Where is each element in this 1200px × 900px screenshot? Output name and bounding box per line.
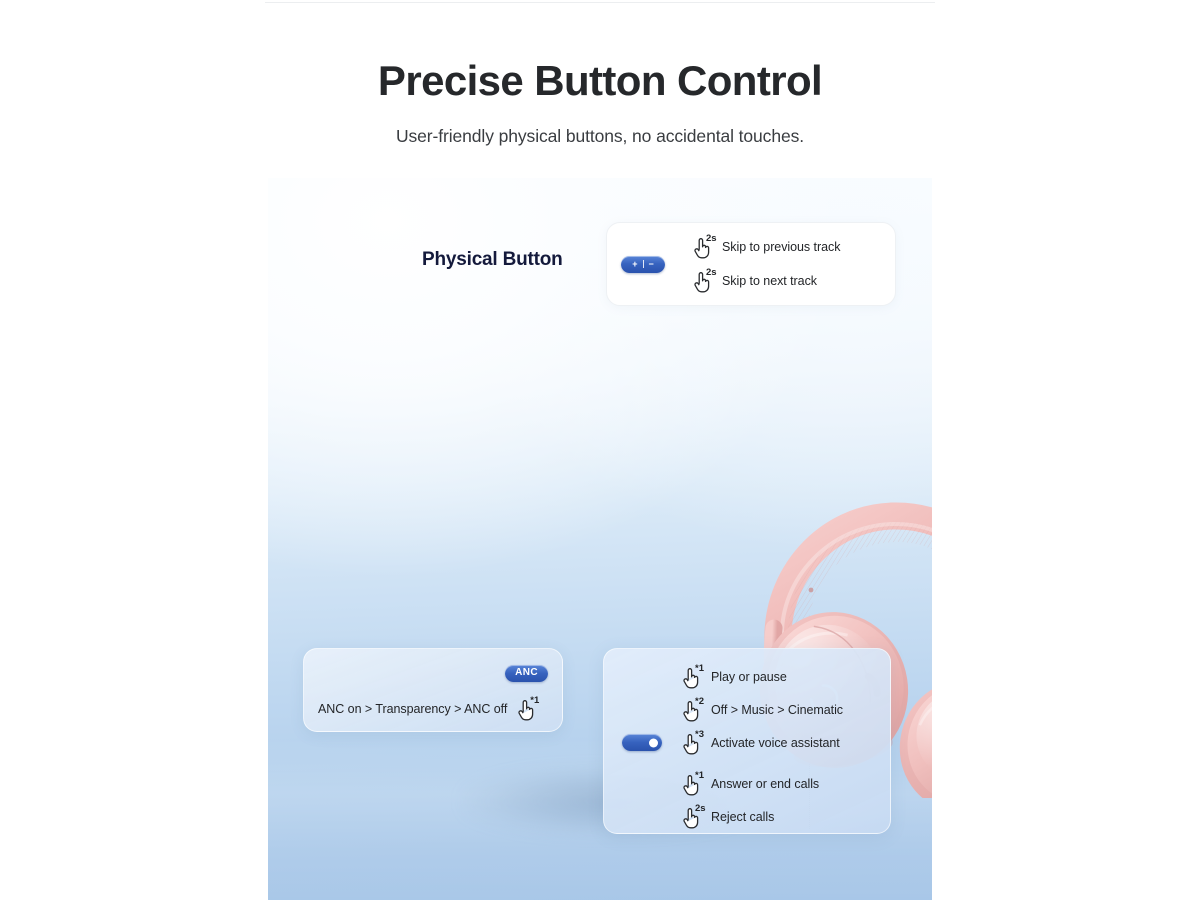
volume-down-symbol: − [649, 260, 654, 269]
gesture-badge: 2s [706, 268, 717, 278]
gesture-badge: *1 [695, 771, 704, 781]
gesture-label: Activate voice assistant [711, 736, 840, 750]
heading-block: Precise Button Control User-friendly phy… [0, 56, 1200, 147]
gesture-row: *1 Answer or end calls [680, 772, 819, 796]
volume-up-symbol: + [632, 260, 637, 269]
gesture-row: *2 Off > Music > Cinematic [680, 698, 843, 722]
gesture-badge: *1 [530, 696, 539, 706]
gesture-badge: *2 [695, 697, 704, 707]
product-hero-panel: Physical Button + − 2s Skip to previous … [268, 178, 932, 900]
tap-hand-icon: 2s [691, 269, 713, 293]
tap-hand-icon: *2 [680, 698, 702, 722]
gesture-row: *3 Activate voice assistant [680, 731, 843, 755]
section-label-physical-button: Physical Button [422, 249, 563, 271]
toggle-knob [649, 738, 658, 747]
gesture-label: Skip to previous track [722, 240, 852, 254]
gesture-badge: *3 [695, 730, 704, 740]
anc-label: ANC on > Transparency > ANC off [318, 702, 507, 716]
gesture-row: *1 Play or pause [680, 665, 843, 689]
gesture-badge: 2s [706, 234, 717, 244]
callout-card-anc: ANC ANC on > Transparency > ANC off *1 [303, 648, 563, 732]
media-gesture-list: *1 Play or pause *2 Off > Music > Cinema… [680, 665, 843, 755]
volume-rocker-button[interactable]: + − [621, 256, 665, 273]
gesture-label: Skip to next track [722, 274, 852, 288]
gesture-label: Play or pause [711, 670, 787, 684]
volume-gesture-list: 2s Skip to previous track 2s Skip to nex… [691, 235, 852, 293]
anc-button[interactable]: ANC [505, 665, 548, 682]
tap-hand-icon: *1 [515, 697, 537, 721]
tap-hand-icon: *3 [680, 731, 702, 755]
tap-hand-icon: *1 [680, 665, 702, 689]
gesture-label: Reject calls [711, 810, 774, 824]
call-gesture-list: *1 Answer or end calls 2s Reject calls [680, 772, 819, 829]
gesture-row: 2s Skip to next track [691, 269, 852, 293]
gesture-label: Answer or end calls [711, 777, 819, 791]
callout-card-volume: + − 2s Skip to previous track [606, 222, 896, 306]
gesture-label: Off > Music > Cinematic [711, 703, 843, 717]
gesture-badge: *1 [695, 664, 704, 674]
gesture-row: 2s Reject calls [680, 805, 819, 829]
multifunction-button[interactable] [622, 734, 662, 751]
top-divider [265, 2, 935, 3]
tap-hand-icon: 2s [680, 805, 702, 829]
tap-hand-icon: *1 [680, 772, 702, 796]
gesture-badge: 2s [695, 804, 706, 814]
page-title: Precise Button Control [0, 56, 1200, 106]
anc-gesture-row: ANC on > Transparency > ANC off *1 [318, 697, 537, 721]
gesture-row: 2s Skip to previous track [691, 235, 852, 259]
page-subtitle: User-friendly physical buttons, no accid… [0, 126, 1200, 147]
callout-card-multifunction: *1 Play or pause *2 Off > Music > Cinema… [603, 648, 891, 834]
tap-hand-icon: 2s [691, 235, 713, 259]
volume-divider [643, 260, 644, 268]
